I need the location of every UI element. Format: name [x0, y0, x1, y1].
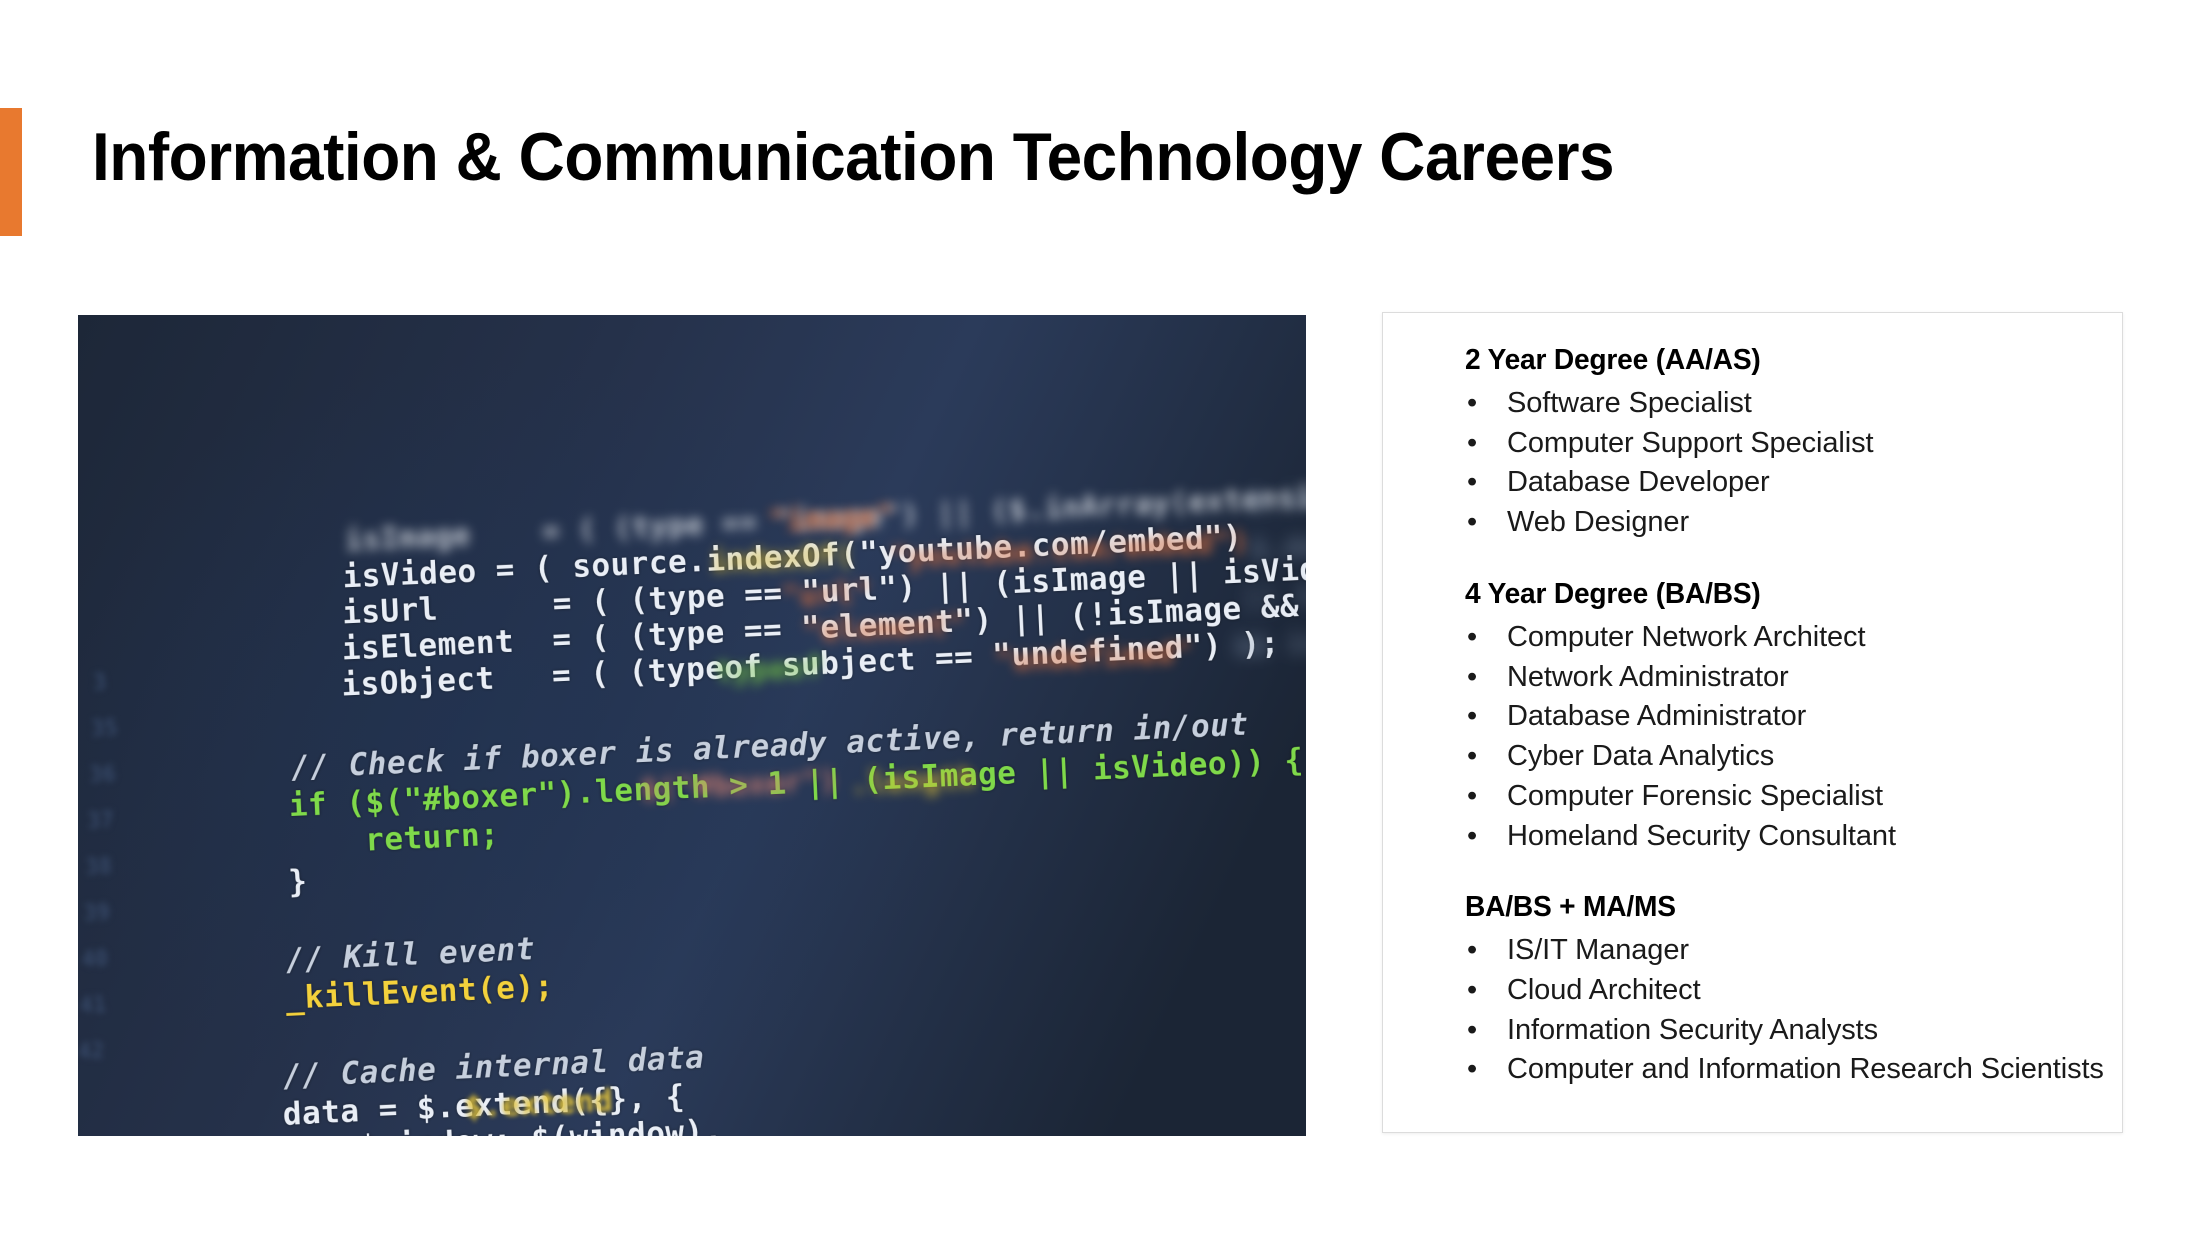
- list-item-label: Software Specialist: [1507, 387, 1752, 419]
- list-item: •Computer Forensic Specialist: [1465, 777, 2104, 817]
- list-item: •Homeland Security Consultant: [1465, 817, 2104, 857]
- bullet-icon: •: [1467, 971, 1477, 1011]
- code-token-blur: "url": [781, 575, 872, 613]
- list-item-label: Homeland Security Consultant: [1507, 820, 1896, 852]
- degree-group-masters: BA/BS + MA/MS •IS/IT Manager •Cloud Arch…: [1465, 886, 2104, 1090]
- list-item: •Software Specialist: [1465, 384, 2104, 424]
- list-item-label: Network Administrator: [1507, 661, 1789, 693]
- careers-panel: 2 Year Degree (AA/AS) •Software Speciali…: [1382, 312, 2123, 1133]
- code-gutter-number: 3: [93, 670, 107, 696]
- code-gutter-number: 41: [79, 993, 107, 1019]
- code-screenshot-image: 3 35 36 37 38 39 40 41 42 isImage = ( (t…: [78, 315, 1306, 1136]
- code-token-blur: .length: [850, 761, 977, 801]
- code-gutter-number: 37: [87, 808, 115, 834]
- list-item-label: Computer Support Specialist: [1507, 427, 1873, 459]
- list-item: •Web Designer: [1465, 503, 2104, 543]
- careers-panel-content: 2 Year Degree (AA/AS) •Software Speciali…: [1465, 339, 2104, 1090]
- bullet-icon: •: [1467, 424, 1477, 464]
- bullet-icon: •: [1467, 697, 1477, 737]
- list-item-label: Database Developer: [1507, 466, 1770, 498]
- degree-group-2-year: 2 Year Degree (AA/AS) •Software Speciali…: [1465, 339, 2104, 543]
- list-item-label: IS/IT Manager: [1507, 934, 1689, 966]
- code-gutter-number: 38: [85, 854, 113, 880]
- list-item-label: Information Security Analysts: [1507, 1014, 1878, 1046]
- code-token-blur: "image": [768, 498, 895, 538]
- code-token-blur: $.inArray extension,: [1247, 469, 1306, 518]
- page-title: Information & Communication Technology C…: [92, 118, 1934, 197]
- bullet-icon: •: [1467, 463, 1477, 503]
- list-item: •Computer and Information Research Scien…: [1465, 1050, 2104, 1090]
- code-line: return;: [288, 817, 500, 863]
- code-token-blur: indexOf(: [709, 538, 854, 578]
- job-list: •IS/IT Manager •Cloud Architect •Informa…: [1465, 931, 2104, 1090]
- code-token-blur: $.data.version: [1249, 521, 1306, 565]
- list-item: •Database Developer: [1465, 463, 2104, 503]
- list-item: •Database Administrator: [1465, 697, 2104, 737]
- code-gutter-number: 35: [91, 716, 119, 742]
- bullet-icon: •: [1467, 931, 1477, 971]
- code-lines-container: 3 35 36 37 38 39 40 41 42 isImage = ( (t…: [78, 315, 1306, 1136]
- list-item-label: Cyber Data Analytics: [1507, 740, 1774, 772]
- bullet-icon: •: [1467, 817, 1477, 857]
- list-item-label: Computer Forensic Specialist: [1507, 780, 1883, 812]
- title-accent-bar: [0, 108, 22, 236]
- code-gutter-number: 36: [89, 762, 117, 788]
- list-item: •IS/IT Manager: [1465, 931, 2104, 971]
- list-item-label: Database Administrator: [1507, 700, 1806, 732]
- bullet-icon: •: [1467, 658, 1477, 698]
- bullet-icon: •: [1467, 737, 1477, 777]
- code-token-blur: typeof: [714, 650, 823, 689]
- code-token-blur: $.extend: [464, 1084, 614, 1126]
- bullet-icon: •: [1467, 618, 1477, 658]
- code-gutter-number: 40: [81, 946, 109, 972]
- list-item: •Computer Support Specialist: [1465, 424, 2104, 464]
- list-item: •Computer Network Architect: [1465, 618, 2104, 658]
- degree-group-heading: 2 Year Degree (AA/AS): [1465, 339, 2085, 381]
- code-gutter-number: 39: [83, 900, 111, 926]
- bullet-icon: •: [1467, 384, 1477, 424]
- code-line: }: [288, 863, 309, 900]
- list-item-label: Computer Network Architect: [1507, 621, 1865, 653]
- bullet-icon: •: [1467, 1050, 1477, 1090]
- list-item: •Cyber Data Analytics: [1465, 737, 2104, 777]
- bullet-icon: •: [1467, 503, 1477, 543]
- list-item-label: Cloud Architect: [1507, 974, 1701, 1006]
- list-item: •Information Security Analysts: [1465, 1011, 2104, 1051]
- list-item: •Cloud Architect: [1465, 971, 2104, 1011]
- code-gutter-number: 42: [78, 1039, 105, 1065]
- bullet-icon: •: [1467, 1011, 1477, 1051]
- list-item-label: Web Designer: [1507, 506, 1689, 538]
- degree-group-heading: 4 Year Degree (BA/BS): [1465, 573, 2085, 615]
- list-item-label: Computer and Information Research Scient…: [1507, 1053, 2104, 1085]
- list-item: •Network Administrator: [1465, 658, 2104, 698]
- degree-group-4-year: 4 Year Degree (BA/BS) •Computer Network …: [1465, 573, 2104, 856]
- job-list: •Software Specialist •Computer Support S…: [1465, 384, 2104, 543]
- job-list: •Computer Network Architect •Network Adm…: [1465, 618, 2104, 856]
- degree-group-heading: BA/BS + MA/MS: [1465, 886, 2085, 928]
- bullet-icon: •: [1467, 777, 1477, 817]
